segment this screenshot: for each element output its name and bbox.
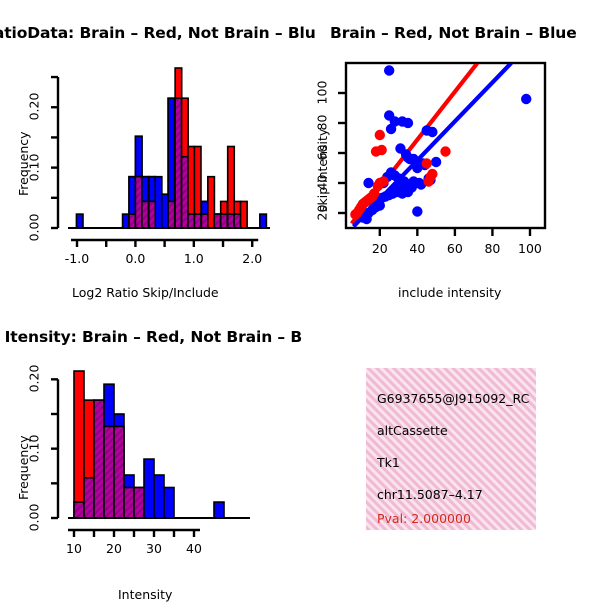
gene-ytick-4: 0.20	[27, 357, 42, 401]
plot-page: RatioData: Brain – Red, Not Brain – Blu …	[0, 0, 600, 600]
info-line-probe: G6937655@J915092_RC	[377, 391, 529, 406]
ratio-xtick-1: 0.0	[113, 251, 157, 266]
panel-ratio-histogram: RatioData: Brain – Red, Not Brain – Blu …	[0, 0, 300, 310]
panel-intensity-scatter: Brain – Red, Not Brain – Blue skip inten…	[300, 0, 600, 310]
ratio-ytick-2: 0.10	[27, 145, 42, 189]
ratio-ytick-0: 0.00	[27, 206, 42, 250]
scatter-canvas	[300, 0, 600, 310]
gene-xtick-1: 20	[92, 541, 136, 556]
scatter-ytick-4: 100	[315, 71, 330, 115]
info-line-locus: chr11.5087–4.17	[377, 487, 483, 502]
info-line-event-type: altCassette	[377, 423, 448, 438]
annotation-info-box: G6937655@J915092_RC altCassette Tk1 chr1…	[366, 368, 536, 530]
ratio-xtick-2: 1.0	[172, 251, 216, 266]
gene-xtick-2: 30	[132, 541, 176, 556]
gene-intensity-canvas	[0, 310, 300, 600]
gene-xtick-3: 40	[172, 541, 216, 556]
info-line-gene: Tk1	[377, 455, 400, 470]
ratio-ytick-4: 0.20	[27, 85, 42, 129]
panel-gene-intensity-histogram: ne Itensity: Brain – Red, Not Brain – B …	[0, 310, 300, 600]
gene-ytick-0: 0.00	[27, 496, 42, 540]
scatter-xtick-4: 100	[508, 241, 552, 256]
gene-xtick-0: 10	[52, 541, 96, 556]
info-line-pval: Pval: 2.000000	[377, 511, 471, 526]
gene-ytick-2: 0.10	[27, 426, 42, 470]
ratio-xtick-3: 2.0	[230, 251, 274, 266]
ratio-xtick-0: -1.0	[55, 251, 99, 266]
